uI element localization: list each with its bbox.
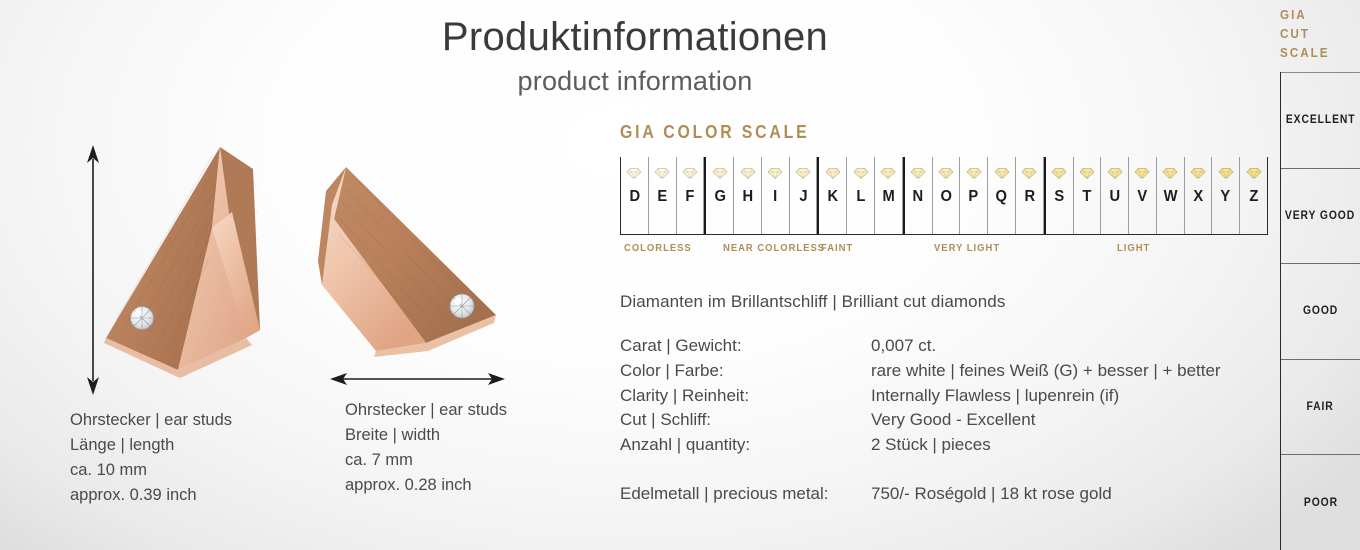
diamond-icon [624, 167, 644, 180]
color-grade-cell-M: M [875, 157, 903, 234]
cut-grade-row-poor: POOR [1281, 454, 1360, 550]
diamond-icon [964, 167, 984, 180]
color-grade-cell-D: D [621, 157, 649, 234]
caption-width: Ohrstecker | ear studs Breite | width ca… [345, 398, 507, 498]
caption-length: Ohrstecker | ear studs Länge | length ca… [70, 408, 232, 508]
color-grade-letter: Z [1249, 188, 1258, 206]
diamond-icon [936, 167, 956, 180]
spec-row: Carat | Gewicht:0,007 ct. [620, 334, 1270, 359]
color-grade-letter: E [657, 188, 667, 206]
diamond-icon [823, 167, 843, 180]
spec-value: rare white | feines Weiß (G) + besser | … [871, 359, 1270, 384]
color-grade-cell-V: V [1129, 157, 1157, 234]
spec-value: 0,007 ct. [871, 334, 1270, 359]
caption-length-line2: Länge | length [70, 433, 232, 458]
color-grade-letter: O [940, 188, 951, 206]
diamond-icon [765, 167, 785, 180]
cut-grade-label: POOR [1303, 497, 1337, 509]
color-grade-cell-H: H [734, 157, 762, 234]
spec-row-precious-metal: Edelmetall | precious metal: 750/- Roség… [620, 482, 1270, 507]
spec-label: Color | Farbe: [620, 359, 871, 384]
color-grade-cell-G: G [704, 157, 734, 234]
diamond-icon [738, 167, 758, 180]
caption-width-line4: approx. 0.28 inch [345, 473, 507, 498]
diamond-icon [992, 167, 1012, 180]
spec-label: Anzahl | quantity: [620, 433, 871, 458]
cut-grade-row-good: GOOD [1281, 263, 1360, 359]
color-group-label-light: LIGHT [1117, 242, 1150, 254]
color-grade-letter: G [714, 188, 725, 206]
product-photo-ear-stud-width [318, 165, 518, 380]
spec-row: Clarity | Reinheit:Internally Flawless |… [620, 384, 1270, 409]
cut-grade-label: GOOD [1303, 305, 1338, 317]
color-grade-letter: J [799, 188, 807, 206]
diamond-icon [710, 167, 730, 180]
color-grade-cell-U: U [1101, 157, 1129, 234]
spec-label: Carat | Gewicht: [620, 334, 871, 359]
cut-grade-label: EXCELLENT [1286, 114, 1356, 126]
color-group-label-very-light: VERY LIGHT [934, 242, 1000, 254]
spec-label: Cut | Schliff: [620, 408, 871, 433]
color-grade-letter: D [629, 188, 640, 206]
caption-length-line1: Ohrstecker | ear studs [70, 408, 232, 433]
gia-cut-scale-heading-line2: CUT [1280, 25, 1330, 44]
gia-color-scale: DEFGHIJKLMNOPQRSTUVWXYZ [620, 157, 1268, 235]
spec-row: Cut | Schliff:Very Good - Excellent [620, 408, 1270, 433]
spec-value: 2 Stück | pieces [871, 433, 1270, 458]
diamond-icon [878, 167, 898, 180]
color-grade-cell-I: I [762, 157, 790, 234]
caption-width-line2: Breite | width [345, 423, 507, 448]
gia-cut-scale-heading: GIA CUT SCALE [1280, 6, 1330, 63]
color-grade-cell-O: O [933, 157, 961, 234]
spec-value-precious-metal: 750/- Roségold | 18 kt rose gold [871, 482, 1270, 507]
gia-color-scale-group-labels: COLORLESSNEAR COLORLESSFAINTVERY LIGHTLI… [620, 242, 1268, 264]
diamond-icon [1216, 167, 1236, 180]
color-grade-letter: R [1024, 188, 1035, 206]
gia-color-scale-heading: GIA COLOR SCALE [620, 122, 1192, 143]
gia-cut-scale-rail: EXCELLENTVERY GOODGOODFAIRPOOR [1280, 72, 1360, 550]
spec-value: Very Good - Excellent [871, 408, 1270, 433]
color-grade-cell-N: N [903, 157, 933, 234]
diamond-icon [793, 167, 813, 180]
color-group-label-colorless: COLORLESS [624, 242, 692, 254]
color-grade-letter: Y [1221, 188, 1231, 206]
cut-grade-label: VERY GOOD [1285, 210, 1355, 222]
diamond-icon [908, 167, 928, 180]
diamond-icon [1105, 167, 1125, 180]
color-grade-cell-S: S [1044, 157, 1074, 234]
color-group-label-faint: FAINT [821, 242, 853, 254]
diamond-icon [1049, 167, 1069, 180]
cut-grade-row-excellent: EXCELLENT [1281, 72, 1360, 168]
product-photo-ear-stud-length [100, 142, 295, 387]
color-grade-letter: I [773, 188, 777, 206]
caption-width-line3: ca. 7 mm [345, 448, 507, 473]
spec-table: Carat | Gewicht:0,007 ct.Color | Farbe:r… [620, 334, 1270, 458]
diamond-icon [1019, 167, 1039, 180]
diamond-icon [851, 167, 871, 180]
color-grade-cell-J: J [790, 157, 818, 234]
spec-value: Internally Flawless | lupenrein (if) [871, 384, 1270, 409]
color-group-label-near-colorless: NEAR COLORLESS [723, 242, 825, 254]
color-grade-cell-F: F [677, 157, 705, 234]
diamond-icon [1132, 167, 1152, 180]
color-grade-letter: H [742, 188, 753, 206]
product-info-column: GIA COLOR SCALE DEFGHIJKLMNOPQRSTUVWXYZ … [620, 122, 1270, 507]
color-grade-cell-E: E [649, 157, 677, 234]
caption-width-line1: Ohrstecker | ear studs [345, 398, 507, 423]
cut-grade-row-very-good: VERY GOOD [1281, 168, 1360, 264]
color-grade-cell-W: W [1157, 157, 1185, 234]
product-image-area: Ohrstecker | ear studs Länge | length ca… [0, 120, 600, 550]
cut-grade-label: FAIR [1307, 401, 1334, 413]
page-title-de: Produktinformationen [0, 14, 1270, 61]
diamond-icon [1244, 167, 1264, 180]
color-grade-cell-R: R [1016, 157, 1044, 234]
color-grade-letter: N [913, 188, 924, 206]
color-grade-cell-Y: Y [1212, 157, 1240, 234]
color-grade-cell-Z: Z [1240, 157, 1268, 234]
cut-grade-row-fair: FAIR [1281, 359, 1360, 455]
diamond-icon [652, 167, 672, 180]
spec-label-precious-metal: Edelmetall | precious metal: [620, 482, 871, 507]
caption-length-line4: approx. 0.39 inch [70, 483, 232, 508]
gia-cut-scale-heading-line1: GIA [1280, 6, 1330, 25]
color-grade-cell-P: P [960, 157, 988, 234]
diamond-icon [1188, 167, 1208, 180]
spec-row: Color | Farbe:rare white | feines Weiß (… [620, 359, 1270, 384]
color-grade-letter: F [685, 188, 694, 206]
color-grade-cell-T: T [1074, 157, 1102, 234]
color-grade-letter: S [1054, 188, 1064, 206]
color-grade-letter: U [1109, 188, 1120, 206]
caption-length-line3: ca. 10 mm [70, 458, 232, 483]
spec-label: Clarity | Reinheit: [620, 384, 871, 409]
spec-intro: Diamanten im Brillantschliff | Brilliant… [620, 292, 1270, 312]
color-grade-letter: L [856, 188, 865, 206]
color-grade-letter: M [882, 188, 894, 206]
color-grade-letter: T [1082, 188, 1091, 206]
color-grade-cell-X: X [1185, 157, 1213, 234]
diamond-icon [1077, 167, 1097, 180]
spec-row: Anzahl | quantity:2 Stück | pieces [620, 433, 1270, 458]
page-header: Produktinformationen product information [0, 14, 1270, 100]
color-grade-letter: K [828, 188, 839, 206]
color-grade-letter: P [969, 188, 979, 206]
color-grade-cell-Q: Q [988, 157, 1016, 234]
gia-cut-scale-sidebar: GIA CUT SCALE EXCELLENTVERY GOODGOODFAIR… [1270, 0, 1360, 550]
gia-cut-scale-heading-line3: SCALE [1280, 44, 1330, 63]
color-grade-letter: V [1138, 188, 1148, 206]
diamond-icon [1160, 167, 1180, 180]
color-grade-cell-L: L [847, 157, 875, 234]
color-grade-letter: X [1193, 188, 1203, 206]
color-grade-letter: Q [996, 188, 1007, 206]
color-grade-letter: W [1163, 188, 1177, 206]
diamond-icon [680, 167, 700, 180]
page-title-en: product information [0, 63, 1270, 99]
color-grade-cell-K: K [817, 157, 847, 234]
